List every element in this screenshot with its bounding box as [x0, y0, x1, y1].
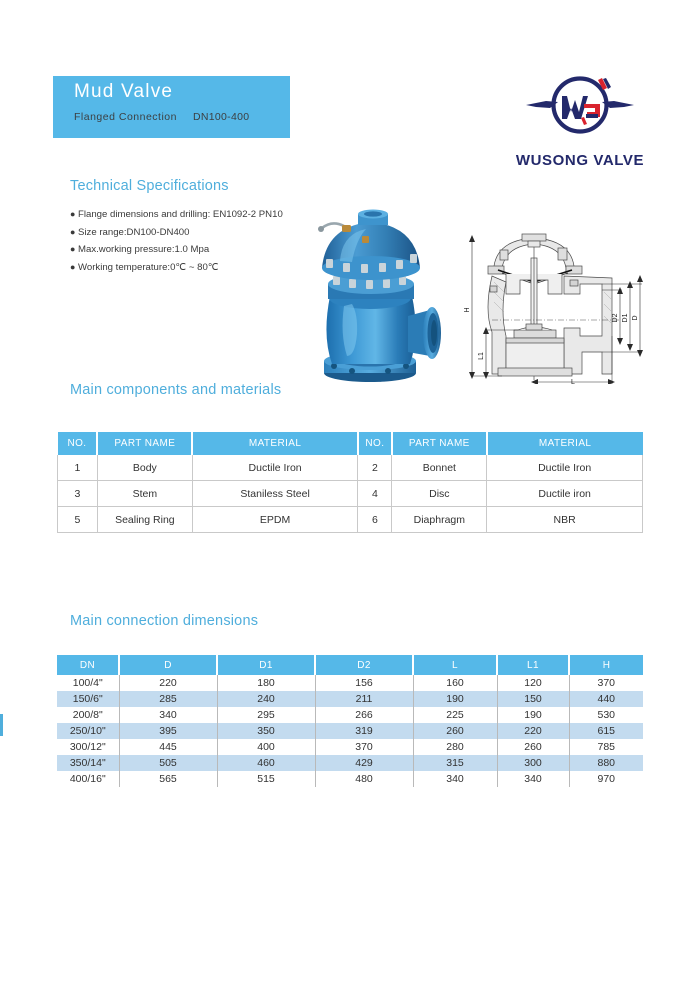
- column-header-l1: L1: [497, 655, 569, 675]
- bullet-icon: ●: [70, 241, 78, 258]
- cell-l: 160: [413, 675, 497, 691]
- table-row: 3 Stem Staniless Steel 4 Disc Ductile ir…: [58, 481, 643, 507]
- spec-text: Size range:DN100-DN400: [78, 227, 189, 238]
- table-row: 250/10" 395 350 319 260 220 615: [57, 723, 643, 739]
- cell-dn: 150/6": [57, 691, 119, 707]
- cell-l1: 120: [497, 675, 569, 691]
- column-header-part-name-1: PART NAME: [97, 432, 192, 455]
- dimensions-table: DN D D1 D2 L L1 H 100/4" 220 180 156 160…: [57, 655, 643, 787]
- column-header-d2: D2: [315, 655, 413, 675]
- cell-material: EPDM: [192, 507, 358, 533]
- cell-no: 2: [358, 455, 392, 481]
- cell-d2: 429: [315, 755, 413, 771]
- cell-h: 440: [569, 691, 643, 707]
- table-row: 350/14" 505 460 429 315 300 880: [57, 755, 643, 771]
- cell-d2: 319: [315, 723, 413, 739]
- size-designation-label: DN100-400: [193, 111, 249, 123]
- cell-h: 615: [569, 723, 643, 739]
- table-row: 5 Sealing Ring EPDM 6 Diaphragm NBR: [58, 507, 643, 533]
- connection-type-label: Flanged Connection: [74, 111, 177, 123]
- cell-no: 6: [358, 507, 392, 533]
- cell-d: 445: [119, 739, 217, 755]
- cell-dn: 250/10": [57, 723, 119, 739]
- brand-logo: WUSONG VALVE: [500, 74, 660, 179]
- cell-part-name: Sealing Ring: [97, 507, 192, 533]
- cell-l1: 190: [497, 707, 569, 723]
- page-title: Mud Valve: [74, 81, 173, 103]
- cell-l1: 340: [497, 771, 569, 787]
- column-header-d1: D1: [217, 655, 315, 675]
- page-edge-marker: [0, 714, 3, 736]
- cell-l: 260: [413, 723, 497, 739]
- technical-specifications-heading: Technical Specifications: [70, 178, 229, 194]
- cell-material: Staniless Steel: [192, 481, 358, 507]
- cell-h: 370: [569, 675, 643, 691]
- dimension-label-d: D: [632, 315, 639, 320]
- cell-no: 4: [358, 481, 392, 507]
- bullet-icon: ●: [70, 224, 78, 241]
- cell-material: NBR: [487, 507, 643, 533]
- cell-dn: 100/4": [57, 675, 119, 691]
- column-header-no-1: NO.: [58, 432, 98, 455]
- cell-l: 280: [413, 739, 497, 755]
- cell-h: 970: [569, 771, 643, 787]
- table-row: 150/6" 285 240 211 190 150 440: [57, 691, 643, 707]
- column-header-material-1: MATERIAL: [192, 432, 358, 455]
- cell-d1: 515: [217, 771, 315, 787]
- cell-d2: 266: [315, 707, 413, 723]
- cell-part-name: Bonnet: [392, 455, 487, 481]
- cell-d: 285: [119, 691, 217, 707]
- table-row: 200/8" 340 295 266 225 190 530: [57, 707, 643, 723]
- cell-dn: 300/12": [57, 739, 119, 755]
- cell-d1: 295: [217, 707, 315, 723]
- cell-l1: 150: [497, 691, 569, 707]
- cell-d2: 156: [315, 675, 413, 691]
- cell-material: Ductile iron: [487, 481, 643, 507]
- cell-d2: 480: [315, 771, 413, 787]
- dimension-label-d1: D1: [622, 313, 629, 322]
- cell-h: 880: [569, 755, 643, 771]
- table-row: 400/16" 565 515 480 340 340 970: [57, 771, 643, 787]
- product-title-banner: Mud Valve Flanged Connection DN100-400: [53, 76, 290, 138]
- materials-table: NO. PART NAME MATERIAL NO. PART NAME MAT…: [57, 432, 643, 533]
- cell-l: 340: [413, 771, 497, 787]
- bullet-icon: ●: [70, 206, 78, 223]
- brand-name: WUSONG VALVE: [500, 152, 660, 169]
- cell-material: Ductile Iron: [192, 455, 358, 481]
- cell-d1: 460: [217, 755, 315, 771]
- cell-part-name: Disc: [392, 481, 487, 507]
- cell-no: 1: [58, 455, 98, 481]
- technical-drawing: H L1 L D2 D1 D: [462, 232, 662, 384]
- cell-d1: 180: [217, 675, 315, 691]
- cell-l: 190: [413, 691, 497, 707]
- cell-h: 530: [569, 707, 643, 723]
- cell-d: 505: [119, 755, 217, 771]
- cell-l1: 300: [497, 755, 569, 771]
- cell-d: 395: [119, 723, 217, 739]
- cell-no: 3: [58, 481, 98, 507]
- cell-dn: 350/14": [57, 755, 119, 771]
- cell-d2: 370: [315, 739, 413, 755]
- product-photo: [300, 206, 470, 384]
- cell-dn: 400/16": [57, 771, 119, 787]
- column-header-no-2: NO.: [358, 432, 392, 455]
- table-row: 1 Body Ductile Iron 2 Bonnet Ductile Iro…: [58, 455, 643, 481]
- spec-text: Flange dimensions and drilling: EN1092-2…: [78, 209, 283, 220]
- cell-d1: 400: [217, 739, 315, 755]
- cell-dn: 200/8": [57, 707, 119, 723]
- cell-material: Ductile Iron: [487, 455, 643, 481]
- cell-d1: 240: [217, 691, 315, 707]
- cell-no: 5: [58, 507, 98, 533]
- dimension-label-d2: D2: [612, 313, 619, 322]
- column-header-h: H: [569, 655, 643, 675]
- dimension-label-l: L: [571, 379, 575, 384]
- cell-h: 785: [569, 739, 643, 755]
- column-header-d: D: [119, 655, 217, 675]
- cell-part-name: Body: [97, 455, 192, 481]
- cell-d: 220: [119, 675, 217, 691]
- cell-l1: 260: [497, 739, 569, 755]
- bullet-icon: ●: [70, 259, 78, 276]
- cell-d: 565: [119, 771, 217, 787]
- cell-l1: 220: [497, 723, 569, 739]
- cell-l: 225: [413, 707, 497, 723]
- table-row: 300/12" 445 400 370 280 260 785: [57, 739, 643, 755]
- cell-d: 340: [119, 707, 217, 723]
- table-header-row: NO. PART NAME MATERIAL NO. PART NAME MAT…: [58, 432, 643, 455]
- column-header-l: L: [413, 655, 497, 675]
- cell-d1: 350: [217, 723, 315, 739]
- column-header-material-2: MATERIAL: [487, 432, 643, 455]
- dimension-label-h: H: [464, 307, 471, 312]
- wusong-logo-icon: [524, 74, 636, 140]
- spec-text: Working temperature:0℃ ~ 80℃: [78, 262, 219, 273]
- table-row: 100/4" 220 180 156 160 120 370: [57, 675, 643, 691]
- cell-part-name: Diaphragm: [392, 507, 487, 533]
- cell-l: 315: [413, 755, 497, 771]
- column-header-part-name-2: PART NAME: [392, 432, 487, 455]
- cell-part-name: Stem: [97, 481, 192, 507]
- materials-heading: Main components and materials: [70, 382, 281, 398]
- table-header-row: DN D D1 D2 L L1 H: [57, 655, 643, 675]
- spec-text: Max.working pressure:1.0 Mpa: [78, 244, 209, 255]
- column-header-dn: DN: [57, 655, 119, 675]
- dimensions-heading: Main connection dimensions: [70, 613, 258, 629]
- dimension-label-l1: L1: [478, 352, 485, 360]
- cell-d2: 211: [315, 691, 413, 707]
